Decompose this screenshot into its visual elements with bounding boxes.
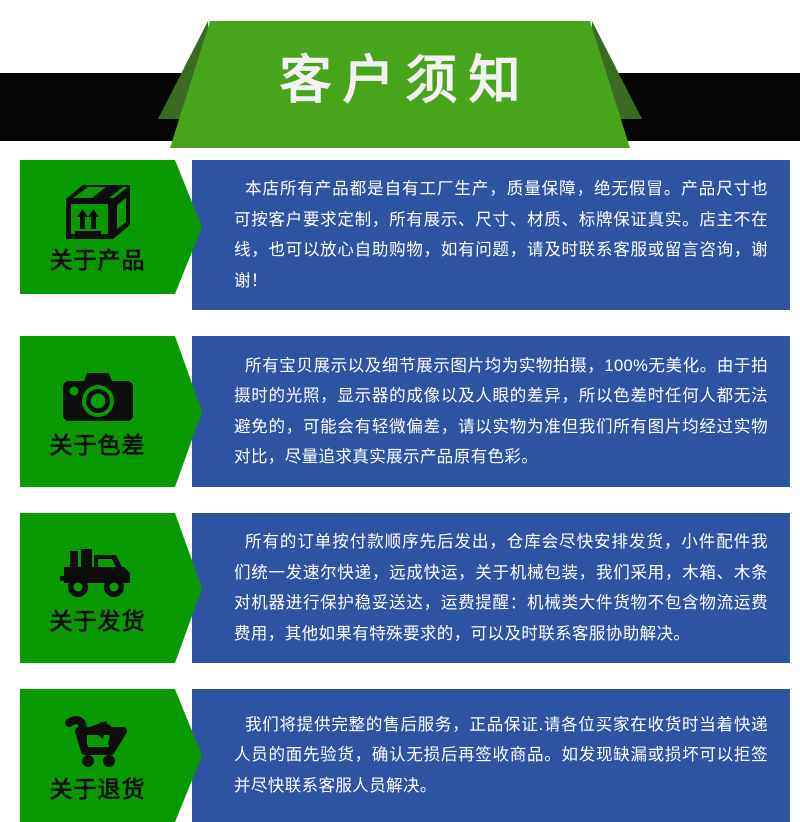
customer-notice-page: 客户须知 (0, 0, 800, 800)
icon-label-product: 关于产品 (50, 248, 146, 273)
text-panel-return: 我们将提供完整的售后服务，正品保证.请各位买家在收货时当着快递人员的面先验货，确… (192, 689, 790, 822)
notice-text-shipping: 所有的订单按付款顺序先后发出，仓库会尽快安排发货，小件配件我们统一发速尔快递，远… (234, 527, 768, 649)
text-panel-color: 所有宝贝展示以及细节展示图片均为实物拍摄，100%无美化。由于拍摄时的光照，显示… (192, 336, 790, 487)
notice-row-return: 关于退货 我们将提供完整的售后服务，正品保证.请各位买家在收货时当着快递人员的面… (0, 689, 800, 822)
notice-sections: 关于产品 本店所有产品都是自有工厂生产，质量保障，绝无假冒。产品尺寸也可按客户要… (0, 160, 800, 822)
shipping-box-icon (55, 180, 141, 246)
ribbon-banner: 客户须知 (170, 21, 630, 148)
notice-row-color: 关于色差 所有宝贝展示以及细节展示图片均为实物拍摄，100%无美化。由于拍摄时的… (0, 336, 800, 487)
icon-label-return: 关于退货 (50, 777, 146, 802)
icon-label-shipping: 关于发货 (50, 609, 146, 634)
forklift-truck-icon (55, 541, 141, 607)
notice-text-return: 我们将提供完整的售后服务，正品保证.请各位买家在收货时当着快递人员的面先验货，确… (234, 710, 768, 802)
notice-row-shipping: 关于发货 所有的订单按付款顺序先后发出，仓库会尽快安排发货，小件配件我们统一发速… (0, 513, 800, 663)
page-title: 客户须知 (268, 55, 531, 115)
text-panel-product: 本店所有产品都是自有工厂生产，质量保障，绝无假冒。产品尺寸也可按客户要求定制，所… (192, 160, 790, 310)
camera-icon (55, 365, 141, 431)
icon-card-product: 关于产品 (20, 160, 175, 294)
notice-row-product: 关于产品 本店所有产品都是自有工厂生产，质量保障，绝无假冒。产品尺寸也可按客户要… (0, 160, 800, 310)
icon-card-shipping: 关于发货 (20, 513, 175, 663)
notice-text-product: 本店所有产品都是自有工厂生产，质量保障，绝无假冒。产品尺寸也可按客户要求定制，所… (234, 174, 768, 296)
icon-card-return: 关于退货 (20, 689, 175, 822)
header-banner: 客户须知 (0, 0, 800, 160)
icon-label-color: 关于色差 (50, 433, 146, 458)
notice-text-color: 所有宝贝展示以及细节展示图片均为实物拍摄，100%无美化。由于拍摄时的光照，显示… (234, 351, 768, 473)
return-cart-icon (55, 709, 141, 775)
text-panel-shipping: 所有的订单按付款顺序先后发出，仓库会尽快安排发货，小件配件我们统一发速尔快递，远… (192, 513, 790, 663)
icon-card-color: 关于色差 (20, 336, 175, 487)
